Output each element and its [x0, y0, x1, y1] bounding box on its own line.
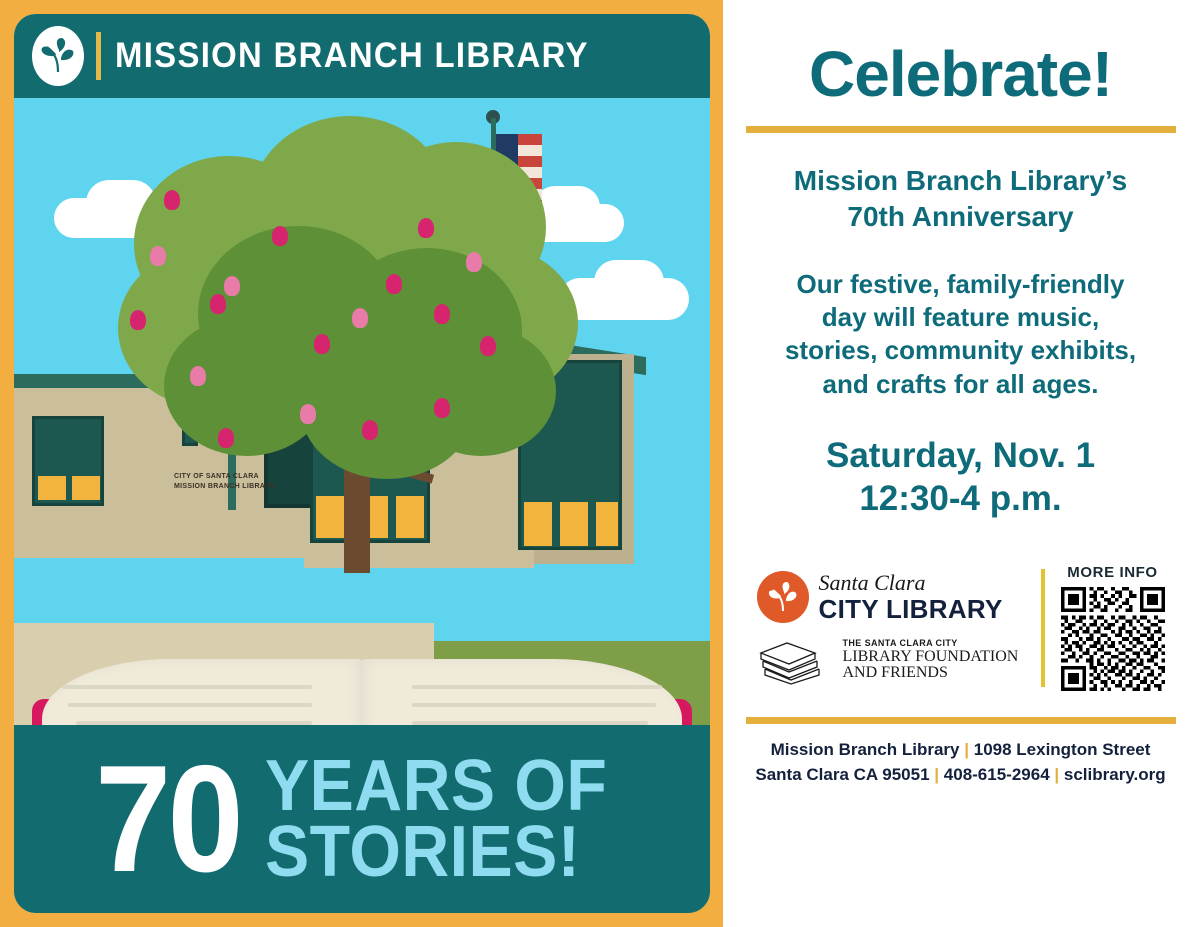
poster-inner-frame: MISSION BRANCH LIBRARY	[14, 14, 710, 913]
blossom-icon	[300, 404, 316, 424]
santa-clara-logo-text: Santa Clara CITY LIBRARY	[819, 572, 1003, 622]
leaf-circle-icon	[757, 571, 809, 623]
footer-line-2: Santa Clara CA 95051 | 408-615-2964 | sc…	[755, 763, 1165, 788]
qr-section: MORE INFO	[1061, 564, 1165, 691]
blossom-icon	[480, 336, 496, 356]
blossom-icon	[130, 310, 146, 330]
blossom-icon	[314, 334, 330, 354]
description-line1: Our festive, family-friendly	[785, 268, 1136, 301]
blossom-icon	[434, 398, 450, 418]
footer-phone[interactable]: 408-615-2964	[944, 765, 1050, 784]
window-glow	[524, 502, 552, 546]
header-gold-rule	[96, 32, 101, 80]
event-time: 12:30-4 p.m.	[826, 478, 1095, 521]
footer-separator: |	[1054, 765, 1059, 784]
foundation-line2: AND FRIENDS	[843, 665, 1019, 682]
building-sign-line2: MISSION BRANCH LIBRARY	[174, 482, 294, 492]
blossom-icon	[210, 294, 226, 314]
sponsor-logos-row: Santa Clara CITY LIBRARY	[745, 564, 1176, 691]
footer-library-name: Mission Branch Library	[771, 740, 960, 759]
footer-street: 1098 Lexington Street	[974, 740, 1151, 759]
window-glow	[72, 476, 100, 500]
logo-script-text: Santa Clara	[819, 572, 1003, 594]
window-glow	[38, 476, 66, 500]
headline-divider	[746, 126, 1176, 133]
footer-separator: |	[934, 765, 939, 784]
blossom-icon	[150, 246, 166, 266]
poster-header-title: MISSION BRANCH LIBRARY	[115, 36, 589, 76]
footer-website[interactable]: sclibrary.org	[1064, 765, 1166, 784]
description-line2: day will feature music,	[785, 301, 1136, 334]
santa-clara-city-library-logo: Santa Clara CITY LIBRARY	[757, 571, 1025, 623]
event-datetime: Saturday, Nov. 1 12:30-4 p.m.	[826, 435, 1095, 520]
headline: Celebrate!	[809, 42, 1112, 106]
contact-footer: Mission Branch Library | 1098 Lexington …	[755, 738, 1165, 787]
building-sign: CITY OF SANTA CLARA MISSION BRANCH LIBRA…	[174, 472, 294, 492]
building-sign-line1: CITY OF SANTA CLARA	[174, 472, 294, 482]
footer-separator: |	[964, 740, 969, 759]
blossom-icon	[352, 308, 368, 328]
poster-header-bar: MISSION BRANCH LIBRARY	[14, 14, 710, 98]
library-foundation-logo: THE SANTA CLARA CITY LIBRARY FOUNDATION …	[757, 637, 1025, 685]
subtitle-line2: 70th Anniversary	[794, 199, 1128, 235]
blossom-icon	[434, 304, 450, 324]
footer-line-1: Mission Branch Library | 1098 Lexington …	[755, 738, 1165, 763]
leaf-icon	[32, 26, 84, 86]
blossom-icon	[224, 276, 240, 296]
banner-line1: YEARS OF	[265, 753, 607, 819]
poster-artwork-panel: MISSION BRANCH LIBRARY	[0, 0, 723, 927]
event-date: Saturday, Nov. 1	[826, 435, 1095, 478]
qr-code-icon[interactable]	[1061, 587, 1165, 691]
window-glow	[560, 502, 588, 546]
blossom-icon	[164, 190, 180, 210]
banner-line2: STORIES!	[265, 819, 607, 885]
blossom-icon	[362, 420, 378, 440]
blossom-icon	[386, 274, 402, 294]
footer-city-state-zip: Santa Clara CA 95051	[755, 765, 929, 784]
footer-divider	[746, 717, 1176, 724]
sponsor-logos: Santa Clara CITY LIBRARY	[757, 571, 1025, 685]
banner-words: YEARS OF STORIES!	[265, 753, 637, 885]
foundation-logo-text: THE SANTA CLARA CITY LIBRARY FOUNDATION …	[843, 639, 1019, 682]
window-glow	[396, 496, 424, 538]
description-line4: and crafts for all ages.	[785, 368, 1136, 401]
blossom-icon	[218, 428, 234, 448]
event-poster: MISSION BRANCH LIBRARY	[0, 0, 1200, 927]
stacked-books-icon	[757, 637, 835, 685]
qr-label: MORE INFO	[1067, 564, 1157, 581]
banner-number: 70	[95, 754, 240, 885]
blossom-icon	[418, 218, 434, 238]
blossom-icon	[466, 252, 482, 272]
subtitle-line1: Mission Branch Library’s	[794, 163, 1128, 199]
cloud-icon	[594, 260, 664, 304]
event-subtitle: Mission Branch Library’s 70th Anniversar…	[794, 163, 1128, 236]
description-line3: stories, community exhibits,	[785, 334, 1136, 367]
foundation-line1: LIBRARY FOUNDATION	[843, 649, 1019, 666]
blossom-icon	[190, 366, 206, 386]
anniversary-banner: 70 YEARS OF STORIES!	[14, 725, 710, 913]
logo-main-text: CITY LIBRARY	[819, 596, 1003, 622]
event-info-panel: Celebrate! Mission Branch Library’s 70th…	[723, 0, 1200, 927]
logos-qr-divider	[1041, 569, 1045, 687]
window-glow	[596, 502, 618, 546]
blossom-icon	[272, 226, 288, 246]
event-description: Our festive, family-friendly day will fe…	[785, 268, 1136, 401]
